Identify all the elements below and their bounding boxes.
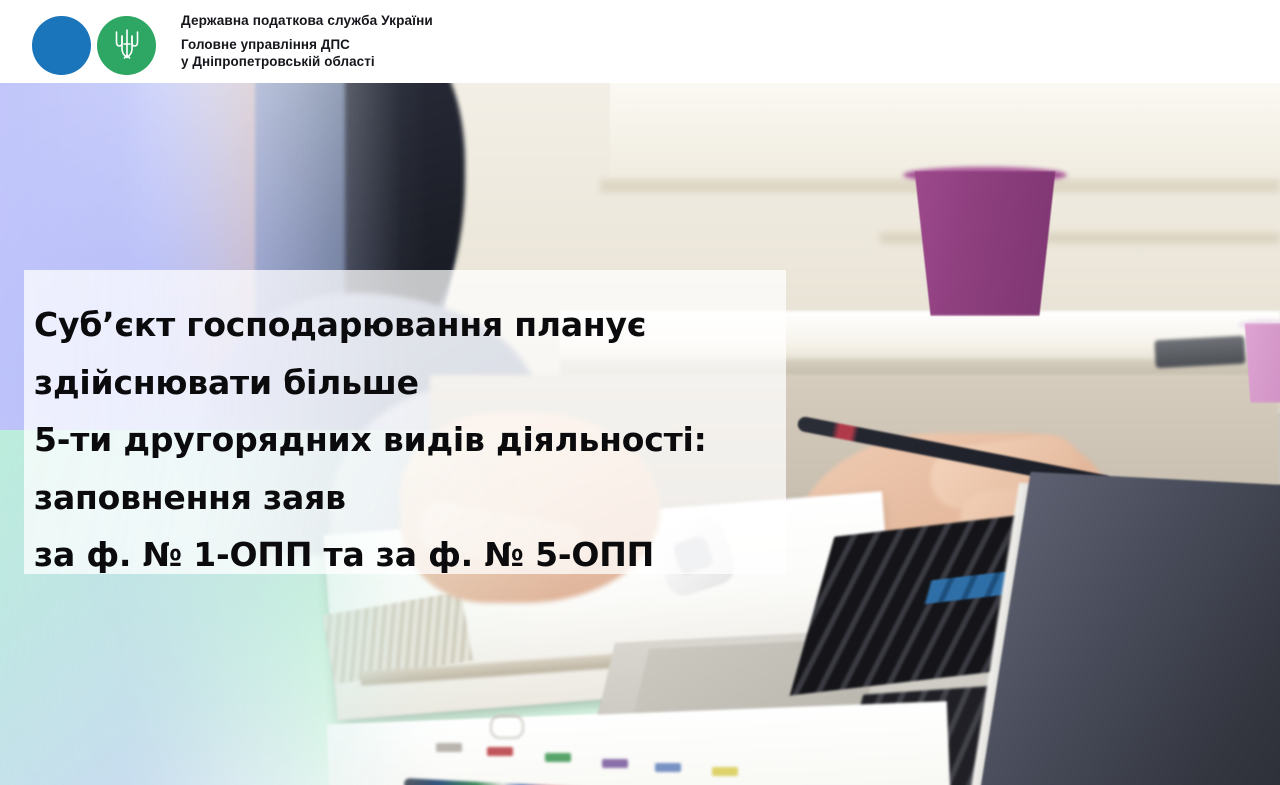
colour-tab bbox=[602, 759, 628, 768]
headline-line-3: 5-ти другорядних видів діяльності: bbox=[34, 411, 786, 469]
headline-overlay-panel: Суб’єкт господарювання планує здійснюват… bbox=[24, 270, 786, 574]
dps-logo bbox=[32, 12, 177, 72]
colour-tab bbox=[487, 747, 513, 756]
header-text-block: Державна податкова служба України Головн… bbox=[181, 12, 433, 71]
headline-line-5: за ф. № 1-ОПП та за ф. № 5-ОПП bbox=[34, 526, 786, 584]
papers-stack bbox=[327, 701, 952, 785]
headline-line-4: заповнення заяв bbox=[34, 469, 786, 527]
smartphone bbox=[1154, 336, 1245, 369]
blue-circle-icon bbox=[32, 16, 91, 75]
department-line-2: у Дніпропетровській області bbox=[181, 53, 433, 71]
colour-tab bbox=[545, 753, 571, 762]
site-header: Державна податкова служба України Головн… bbox=[0, 0, 1280, 83]
colour-tab bbox=[436, 743, 462, 752]
purple-cup bbox=[905, 171, 1065, 316]
organization-title: Державна податкова служба України bbox=[181, 12, 433, 30]
window-blind bbox=[610, 83, 1280, 179]
colour-tab bbox=[655, 763, 681, 772]
colour-tab bbox=[712, 767, 738, 776]
department-line-1: Головне управління ДПС bbox=[181, 36, 433, 54]
headline-line-2: здійснювати більше bbox=[34, 354, 786, 412]
banner-page: Державна податкова служба України Головн… bbox=[0, 0, 1280, 785]
ukraine-trident-icon bbox=[97, 16, 156, 75]
headline-line-1: Суб’єкт господарювання планує bbox=[34, 296, 786, 354]
paperclip bbox=[490, 715, 524, 739]
